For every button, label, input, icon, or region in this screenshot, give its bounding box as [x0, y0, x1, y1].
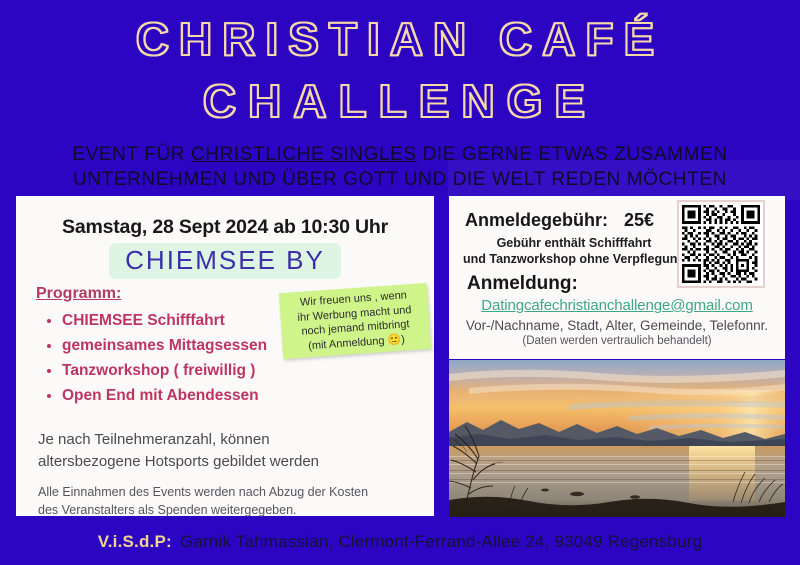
donation-fineprint: Alle Einnahmen des Events werden nach Ab…: [38, 483, 420, 519]
list-item: Tanzworkshop ( freiwillig ): [62, 359, 420, 382]
poster-canvas: CHRISTIAN CAFÉ CHALLENGE EVENT FÜR CHRIS…: [0, 0, 800, 565]
group-note-line-2: altersbezogene Hotsports gebildet werden: [38, 451, 420, 473]
event-location-wrapper: CHIEMSEE BY: [30, 243, 420, 279]
event-location-badge: CHIEMSEE BY: [109, 243, 341, 279]
qr-code-svg: [682, 205, 760, 283]
donation-fineprint-line-1: Alle Einnahmen des Events werden nach Ab…: [38, 483, 420, 501]
photo-svg: [449, 360, 785, 517]
subtitle-part-2: DIE GERNE ETWAS ZUSAMMEN: [417, 144, 728, 165]
fee-description: Gebühr enthält Schifffahrt und Tanzworks…: [459, 235, 689, 267]
subtitle-part-1: EVENT FÜR: [72, 144, 191, 165]
group-note-line-1: Je nach Teilnehmeranzahl, können: [38, 429, 420, 451]
confidentiality-text: (Daten werden vertraulich behandelt): [459, 335, 775, 347]
event-details-card: Samstag, 28 Sept 2024 ab 10:30 Uhr CHIEM…: [16, 196, 434, 516]
imprint-footer: V.i.S.d.P:Garnik Tahmassian, Clermont-Fe…: [0, 532, 800, 552]
sticky-note: Wir freuen uns , wenn ihr Werbung macht …: [279, 283, 431, 359]
fee-description-line-2: und Tanzworkshop ohne Verpflegung: [459, 251, 689, 267]
title-line-2: CHALLENGE: [0, 70, 800, 132]
chiemsee-sunset-photo: [449, 360, 785, 517]
poster-subtitle: EVENT FÜR CHRISTLICHE SINGLES DIE GERNE …: [0, 142, 800, 192]
registration-email-link[interactable]: Datingcafechristianchallenge@gmail.com: [459, 297, 775, 314]
qr-code-icon[interactable]: [677, 200, 765, 288]
list-item: Open End mit Abendessen: [62, 384, 420, 407]
fee-amount: 25€: [624, 210, 654, 230]
subtitle-highlight: CHRISTLICHE SINGLES: [191, 144, 417, 165]
required-fields-text: Vor-/Nachname, Stadt, Alter, Gemeinde, T…: [459, 318, 775, 333]
visdp-label: V.i.S.d.P:: [98, 532, 172, 551]
title-line-1: CHRISTIAN CAFÉ: [0, 8, 800, 70]
group-note: Je nach Teilnehmeranzahl, können altersb…: [38, 429, 420, 473]
subtitle-line-2: UNTERNEHMEN UND ÜBER GOTT UND DIE WELT R…: [0, 167, 800, 192]
registration-card: Anmeldegebühr:25€ Gebühr enthält Schifff…: [449, 196, 785, 359]
subtitle-line-1: EVENT FÜR CHRISTLICHE SINGLES DIE GERNE …: [0, 142, 800, 167]
fee-label: Anmeldegebühr:: [465, 210, 608, 230]
event-date: Samstag, 28 Sept 2024 ab 10:30 Uhr: [30, 216, 420, 239]
visdp-address: Garnik Tahmassian, Clermont-Ferrand-Alle…: [180, 532, 702, 551]
poster-title: CHRISTIAN CAFÉ CHALLENGE: [0, 8, 800, 132]
donation-fineprint-line-2: des Veranstalters als Spenden weitergege…: [38, 501, 420, 519]
fee-description-line-1: Gebühr enthält Schifffahrt: [459, 235, 689, 251]
